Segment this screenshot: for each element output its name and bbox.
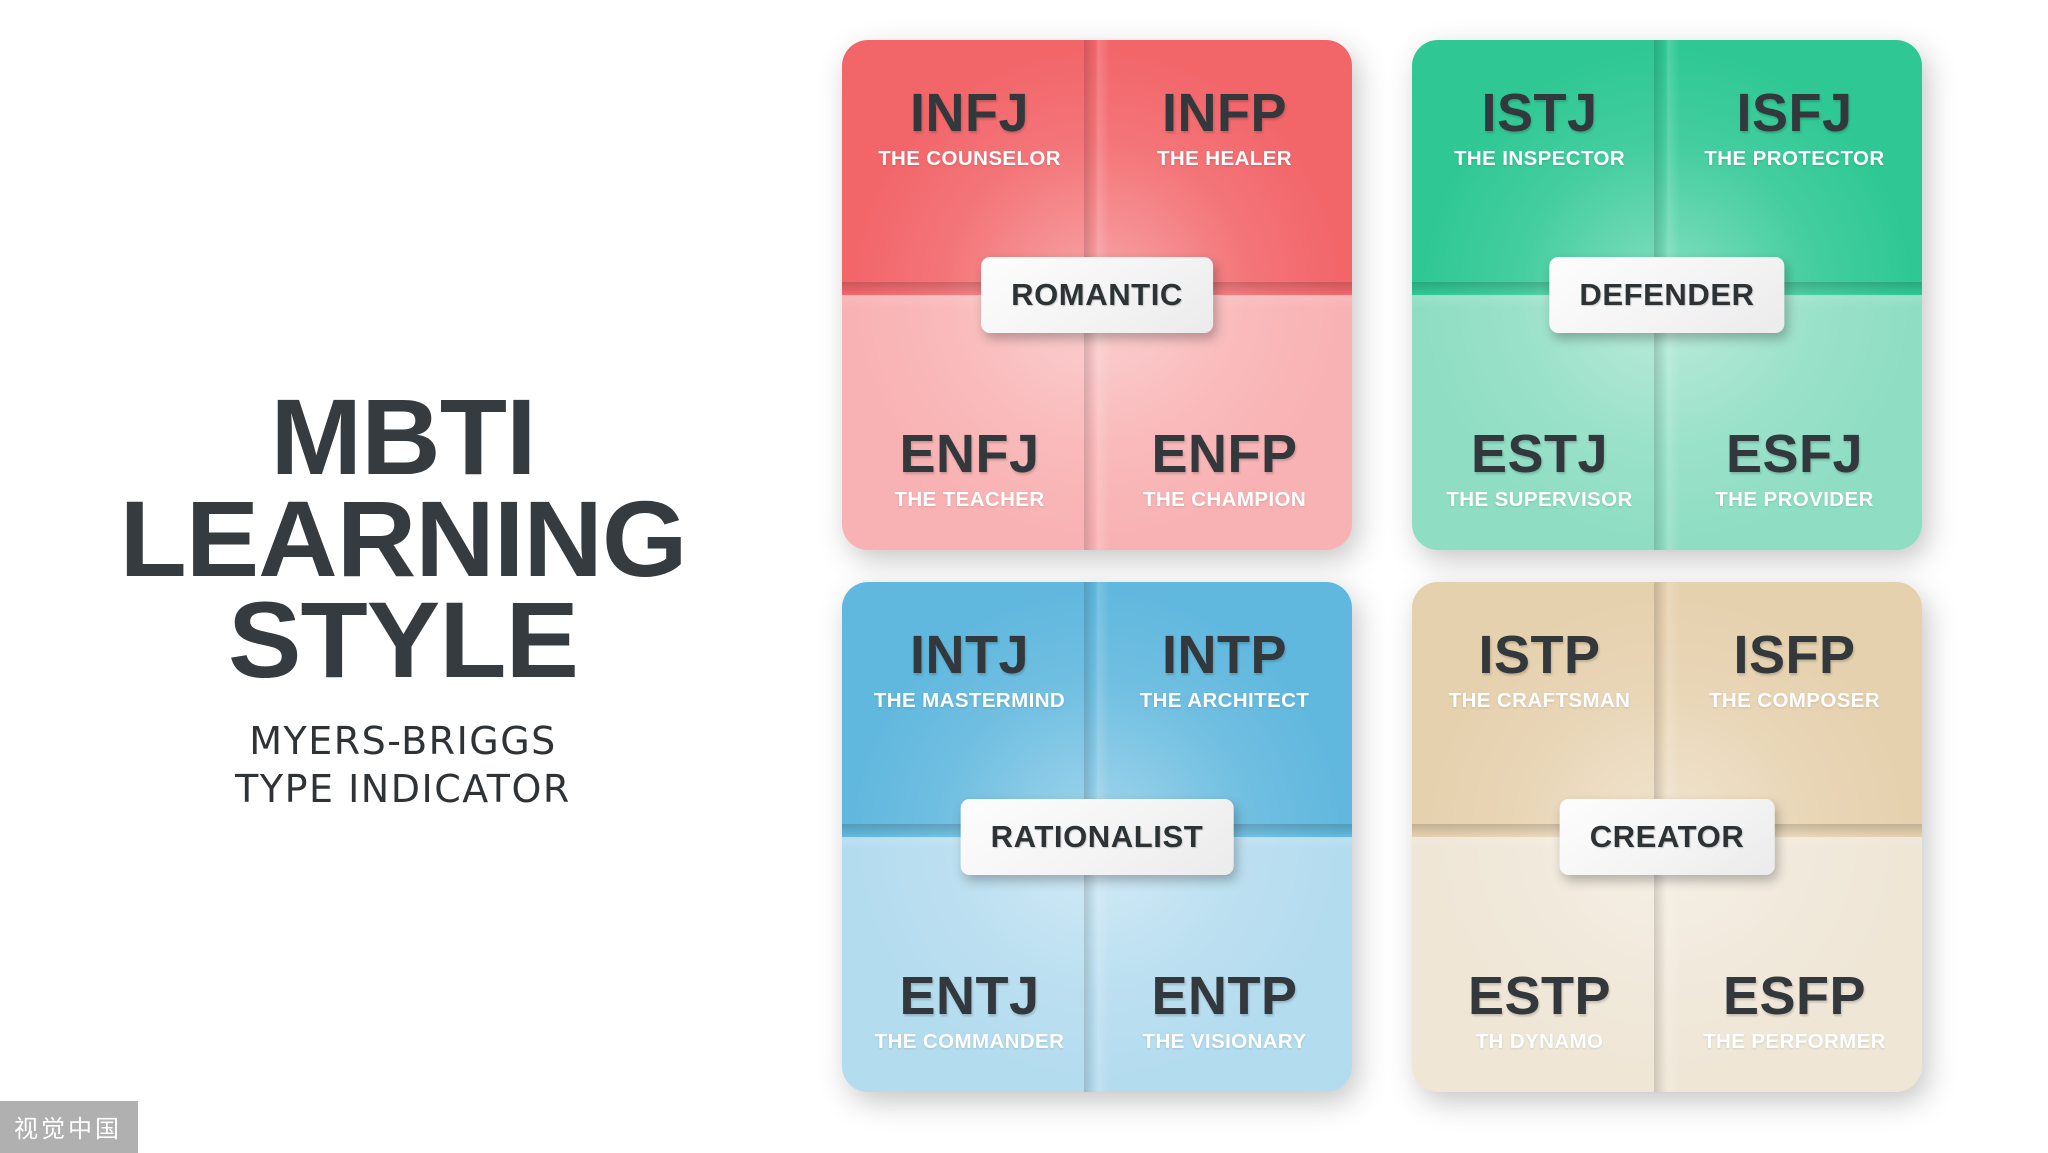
group-label-defender[interactable]: DEFENDER bbox=[1549, 257, 1784, 333]
group-creator: ISTP THE CRAFTSMAN ISFP THE COMPOSER EST… bbox=[1412, 582, 1922, 1092]
type-code: INTJ bbox=[910, 628, 1029, 682]
type-code: ISFJ bbox=[1736, 86, 1852, 140]
type-role: THE COUNSELOR bbox=[878, 149, 1061, 170]
type-role: THE COMPOSER bbox=[1709, 691, 1880, 712]
type-card-esfj[interactable]: ESFJ THE PROVIDER bbox=[1667, 295, 1922, 550]
type-card-estp[interactable]: ESTP TH DYNAMO bbox=[1412, 837, 1667, 1092]
type-card-enfp[interactable]: ENFP THE CHAMPION bbox=[1097, 295, 1352, 550]
type-code: ENFP bbox=[1151, 427, 1297, 481]
type-role: THE PERFORMER bbox=[1703, 1032, 1886, 1053]
group-label-text: RATIONALIST bbox=[991, 819, 1204, 854]
type-code: ESTP bbox=[1468, 969, 1611, 1023]
type-role: THE TEACHER bbox=[894, 490, 1044, 511]
type-role: THE HEALER bbox=[1157, 149, 1292, 170]
title-line-1: MBTI bbox=[0, 386, 814, 488]
title-main: MBTI LEARNING STYLE bbox=[0, 386, 814, 691]
type-card-entj[interactable]: ENTJ THE COMMANDER bbox=[842, 837, 1097, 1092]
type-role: THE CHAMPION bbox=[1143, 490, 1306, 511]
title-line-3: STYLE bbox=[0, 589, 814, 691]
type-code: ISTJ bbox=[1481, 86, 1597, 140]
type-role: THE CRAFTSMAN bbox=[1449, 691, 1631, 712]
type-code: ISTP bbox=[1478, 628, 1600, 682]
subtitle-line-2: TYPE INDICATOR bbox=[0, 765, 806, 814]
type-code: ESFP bbox=[1723, 969, 1866, 1023]
group-label-text: DEFENDER bbox=[1579, 277, 1754, 312]
group-rationalist: INTJ THE MASTERMIND INTP THE ARCHITECT E… bbox=[842, 582, 1352, 1092]
type-code: ENFJ bbox=[899, 427, 1039, 481]
type-card-estj[interactable]: ESTJ THE SUPERVISOR bbox=[1412, 295, 1667, 550]
watermark-text: 视觉中国 bbox=[14, 1115, 122, 1143]
type-role: THE MASTERMIND bbox=[874, 691, 1065, 712]
group-label-text: ROMANTIC bbox=[1011, 277, 1183, 312]
type-card-esfp[interactable]: ESFP THE PERFORMER bbox=[1667, 837, 1922, 1092]
type-code: INFP bbox=[1162, 86, 1287, 140]
page-title: MBTI LEARNING STYLE MYERS-BRIGGS TYPE IN… bbox=[0, 386, 806, 814]
type-role: THE PROTECTOR bbox=[1704, 149, 1884, 170]
type-code: INFJ bbox=[910, 86, 1029, 140]
title-line-2: LEARNING bbox=[0, 488, 814, 590]
title-subtitle: MYERS-BRIGGS TYPE INDICATOR bbox=[0, 717, 806, 814]
type-code: ISFP bbox=[1733, 628, 1855, 682]
group-label-creator[interactable]: CREATOR bbox=[1560, 799, 1775, 875]
type-code: ESTJ bbox=[1471, 427, 1608, 481]
type-code: ESFJ bbox=[1726, 427, 1863, 481]
type-code: ENTJ bbox=[899, 969, 1039, 1023]
group-label-rationalist[interactable]: RATIONALIST bbox=[961, 799, 1234, 875]
subtitle-line-1: MYERS-BRIGGS bbox=[0, 717, 806, 766]
type-role: THE SUPERVISOR bbox=[1446, 490, 1632, 511]
group-label-romantic[interactable]: ROMANTIC bbox=[981, 257, 1213, 333]
type-role: THE PROVIDER bbox=[1715, 490, 1874, 511]
type-card-entp[interactable]: ENTP THE VISIONARY bbox=[1097, 837, 1352, 1092]
group-defender: ISTJ THE INSPECTOR ISFJ THE PROTECTOR ES… bbox=[1412, 40, 1922, 550]
type-role: THE ARCHITECT bbox=[1140, 691, 1310, 712]
type-card-enfj[interactable]: ENFJ THE TEACHER bbox=[842, 295, 1097, 550]
type-role: TH DYNAMO bbox=[1476, 1032, 1604, 1053]
group-romantic: INFJ THE COUNSELOR INFP THE HEALER ENFJ … bbox=[842, 40, 1352, 550]
type-role: THE VISIONARY bbox=[1143, 1032, 1307, 1053]
group-label-text: CREATOR bbox=[1590, 819, 1745, 854]
type-code: ENTP bbox=[1151, 969, 1297, 1023]
type-role: THE COMMANDER bbox=[875, 1032, 1065, 1053]
type-code: INTP bbox=[1162, 628, 1287, 682]
watermark: 视觉中国 bbox=[0, 1101, 138, 1153]
mbti-grid: INFJ THE COUNSELOR INFP THE HEALER ENFJ … bbox=[842, 40, 2002, 1096]
type-role: THE INSPECTOR bbox=[1454, 149, 1625, 170]
